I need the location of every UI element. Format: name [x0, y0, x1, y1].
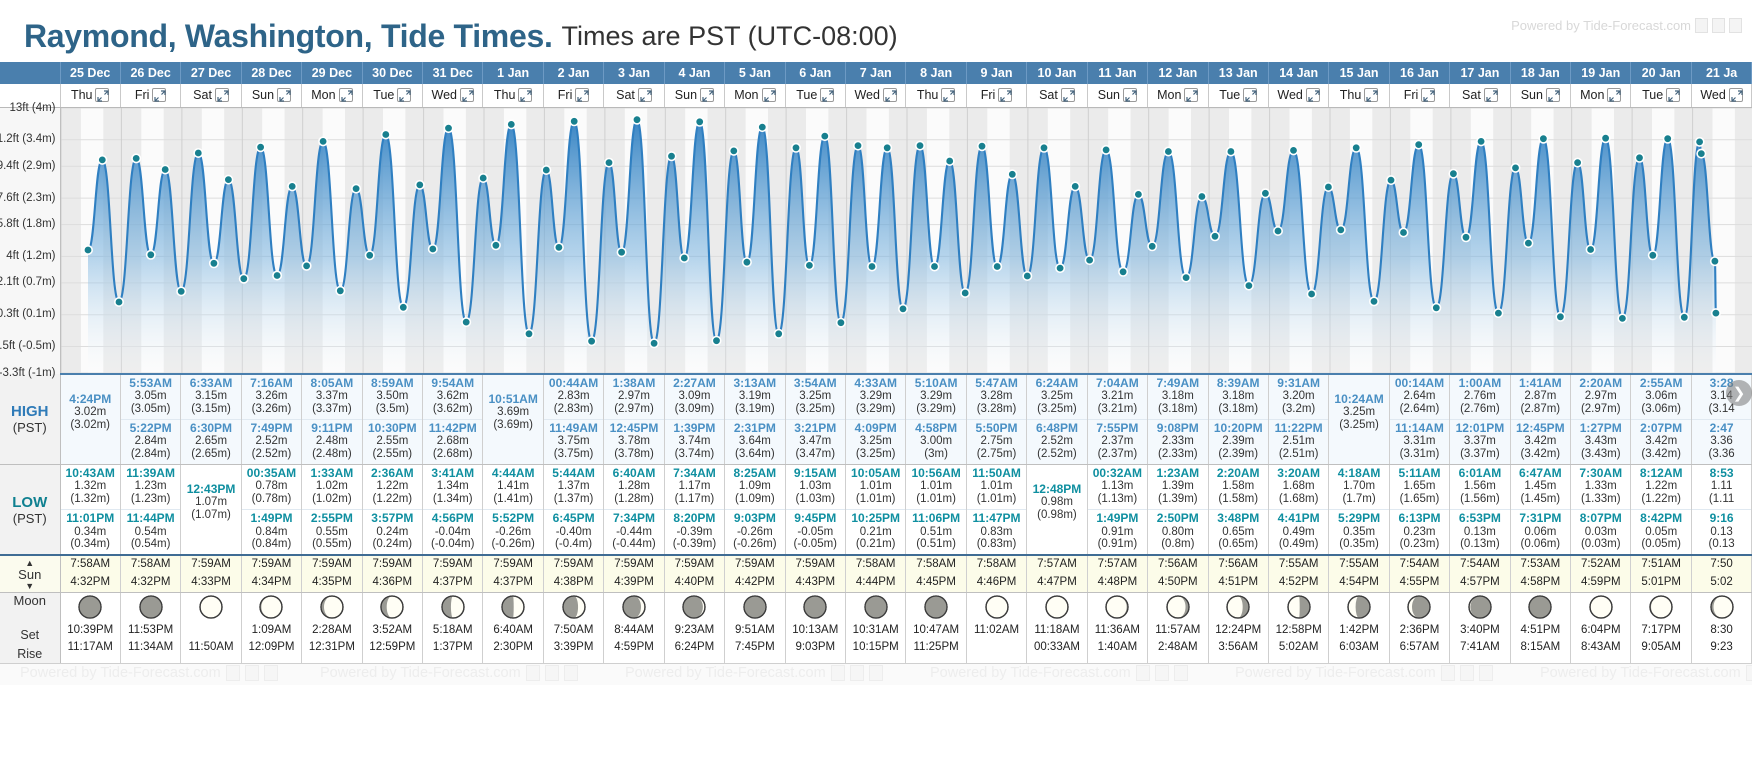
weekday-cell[interactable]: Thu — [1329, 84, 1389, 107]
tide-event: 9:08PM2.33m(2.33m) — [1148, 419, 1207, 464]
expand-icon[interactable] — [277, 88, 291, 102]
tide-event: 4:41PM0.49m(0.49m) — [1269, 509, 1328, 554]
date-header-cell[interactable]: 18 Jan — [1510, 62, 1570, 84]
date-header-cell[interactable]: 6 Jan — [785, 62, 845, 84]
moon-cell: 11:18AM00:33AM — [1027, 592, 1087, 663]
moon-cell: 10:13AM9:03PM — [785, 592, 845, 663]
scroll-right-button[interactable]: ❯ — [1726, 380, 1752, 406]
moonrise-time: 6:57AM — [1390, 639, 1449, 656]
tide-time: 5:47AM — [967, 377, 1026, 390]
tide-height: 1.01m — [906, 480, 965, 493]
tide-height-alt: (2.97m) — [604, 403, 663, 416]
tide-height: 3.28m — [967, 390, 1026, 403]
tide-height-alt: (-0.26m) — [725, 538, 784, 551]
weekday-cell[interactable]: Tue — [785, 84, 845, 107]
tide-height: 1.45m — [1511, 480, 1570, 493]
expand-icon[interactable] — [95, 88, 109, 102]
expand-icon[interactable] — [883, 88, 897, 102]
tide-height: 1.68m — [1269, 480, 1328, 493]
sunset-time: 4:33PM — [181, 574, 240, 592]
tide-time: 8:05AM — [302, 377, 361, 390]
weekday-text: Tue — [373, 88, 394, 102]
date-header-cell[interactable]: 4 Jan — [664, 62, 724, 84]
tide-time: 6:40AM — [604, 467, 663, 480]
tide-time: 2:20AM — [1571, 377, 1630, 390]
sunset-time: 4:54PM — [1329, 574, 1388, 592]
moon-phase-icon — [665, 594, 724, 620]
date-header-cell[interactable]: 5 Jan — [725, 62, 785, 84]
tide-time: 7:16AM — [242, 377, 301, 390]
high-label-text: HIGH — [0, 403, 60, 420]
date-text: 25 Dec — [70, 66, 110, 80]
moon-cell: 12:58PM5:02AM — [1268, 592, 1328, 663]
tide-time: 10:25PM — [846, 512, 905, 525]
weekday-text: Tue — [796, 88, 817, 102]
low-tide-label: LOW (PST) — [0, 464, 60, 555]
tide-time: 8:25AM — [725, 467, 784, 480]
tide-height-alt: (1.17m) — [665, 493, 724, 506]
sunrise-time: 7:54AM — [1390, 556, 1449, 574]
weekday-cell[interactable]: Mon — [1571, 84, 1631, 107]
tide-height: 2.87m — [1511, 390, 1570, 403]
weekday-text: Mon — [734, 88, 758, 102]
weekday-text: Sat — [1039, 88, 1058, 102]
date-header-cell[interactable]: 15 Jan — [1329, 62, 1389, 84]
date-text: 10 Jan — [1038, 66, 1077, 80]
moon-phase-icon — [1027, 594, 1086, 620]
tide-height-alt: (2.48m) — [302, 448, 361, 461]
tide-event: 2:31PM3.64m(3.64m) — [725, 419, 784, 464]
weekday-text: Fri — [558, 88, 573, 102]
logo-icon-3 — [1729, 18, 1742, 33]
tide-time: 11:49AM — [544, 422, 603, 435]
sunset-time: 4:44PM — [846, 574, 905, 592]
tide-height-alt: (3.69m) — [483, 419, 542, 432]
date-header-cell[interactable]: 10 Jan — [1027, 62, 1087, 84]
moonset-time: 9:23AM — [665, 622, 724, 639]
sunrise-time: 7:59AM — [423, 556, 482, 574]
timezone-note: Times are PST (UTC-08:00) — [562, 21, 898, 52]
moonset-time: 11:02AM — [967, 622, 1026, 639]
tide-height: 3.78m — [604, 435, 663, 448]
date-text: 16 Jan — [1400, 66, 1439, 80]
tide-event: 5:52PM-0.26m(-0.26m) — [483, 509, 542, 554]
sunset-time: 4:32PM — [121, 574, 180, 592]
expand-icon[interactable] — [215, 88, 229, 102]
weekday-cell[interactable]: Mon — [1148, 84, 1208, 107]
tide-height-alt: (0.21m) — [846, 538, 905, 551]
tide-event: 5:11AM1.65m(1.65m) — [1390, 465, 1449, 509]
tide-height: 0.34m — [61, 526, 120, 539]
weekday-cell[interactable]: Fri — [966, 84, 1026, 107]
expand-icon[interactable] — [397, 88, 411, 102]
tide-height: -0.05m — [786, 526, 845, 539]
weekday-text: Sat — [616, 88, 635, 102]
tide-time: 5:29PM — [1329, 512, 1388, 525]
tide-event: 8:531.11(1.11 — [1692, 465, 1751, 509]
date-header-cell[interactable]: 8 Jan — [906, 62, 966, 84]
tide-time: 11:50AM — [967, 467, 1026, 480]
weekday-cell[interactable]: Sun — [1510, 84, 1570, 107]
weekday-cell[interactable]: Sat — [604, 84, 664, 107]
tide-event: 12:45PM3.78m(3.78m) — [604, 419, 663, 464]
weekday-cell[interactable]: Thu — [60, 84, 120, 107]
tide-height-alt: (0.51m) — [906, 538, 965, 551]
sunset-time: 4:38PM — [544, 574, 603, 592]
sunrise-time: 7:59AM — [181, 556, 240, 574]
weekday-cell[interactable]: Thu — [483, 84, 543, 107]
tide-height: 3.26m — [242, 390, 301, 403]
tide-height: 3.36 — [1692, 435, 1751, 448]
tide-height: 1.11 — [1692, 480, 1751, 493]
moon-cell: 9:23AM6:24PM — [664, 592, 724, 663]
moon-phase-icon — [1631, 594, 1690, 620]
low-tide-cell: 8:12AM1.22m(1.22m)8:42PM0.05m(0.05m) — [1631, 464, 1691, 555]
tide-time: 6:53PM — [1450, 512, 1509, 525]
expand-icon[interactable] — [820, 88, 834, 102]
tide-height: 3.25m — [846, 435, 905, 448]
date-header-cell[interactable]: 28 Dec — [241, 62, 301, 84]
sun-times-cell: 7:57AM4:47PM — [1027, 555, 1087, 592]
tide-event: 11:06PM0.51m(0.51m) — [906, 509, 965, 554]
sun-times-cell: 7:56AM4:51PM — [1208, 555, 1268, 592]
tide-height-alt: (3.06m) — [1631, 403, 1690, 416]
tide-time: 6:48PM — [1027, 422, 1086, 435]
weekday-cell[interactable]: Wed — [1691, 84, 1751, 107]
tide-time: 7:04AM — [1088, 377, 1147, 390]
tide-height: 0.06m — [1511, 526, 1570, 539]
tide-event: 2:36AM1.22m(1.22m) — [363, 465, 422, 509]
tide-event: 7:04AM3.21m(3.21m) — [1088, 375, 1147, 419]
tide-event: 00:35AM0.78m(0.78m) — [242, 465, 301, 509]
date-header-cell[interactable]: 26 Dec — [120, 62, 180, 84]
low-tide-cell: 7:30AM1.33m(1.33m)8:07PM0.03m(0.03m) — [1571, 464, 1631, 555]
weekday-cell[interactable]: Sun — [1087, 84, 1147, 107]
moon-phase-icon — [967, 594, 1026, 620]
weekday-text: Sun — [1521, 88, 1543, 102]
date-header-cell[interactable]: 17 Jan — [1450, 62, 1510, 84]
tide-height-alt: (1.09m) — [725, 493, 784, 506]
tide-height-alt: (0.13m) — [1450, 538, 1509, 551]
tide-height: 3.42m — [1631, 435, 1690, 448]
date-header-cell[interactable]: 19 Jan — [1571, 62, 1631, 84]
footer-powered-by-text: Powered by Tide-Forecast.com — [320, 665, 521, 681]
tide-height-alt: (3.26m) — [242, 403, 301, 416]
date-text: 30 Dec — [372, 66, 412, 80]
date-header-cell[interactable]: 31 Dec — [423, 62, 483, 84]
sunset-time: 5:01PM — [1631, 574, 1690, 592]
expand-icon[interactable] — [1484, 88, 1498, 102]
low-tide-cell: 00:32AM1.13m(1.13m)1:49PM0.91m(0.91m) — [1087, 464, 1147, 555]
high-tide-cell: 4:33AM3.29m(3.29m)4:09PM3.25m(3.25m) — [845, 374, 905, 465]
weekday-cell[interactable]: Thu — [906, 84, 966, 107]
tide-height-alt: (3.37m) — [1450, 448, 1509, 461]
tide-time: 8:39AM — [1209, 377, 1268, 390]
tide-time: 8:42PM — [1631, 512, 1690, 525]
footer-logo-icon-2 — [545, 665, 559, 681]
date-header-cell[interactable]: 7 Jan — [845, 62, 905, 84]
tide-event: 7:49PM2.52m(2.52m) — [242, 419, 301, 464]
tide-height-alt: (0.54m) — [121, 538, 180, 551]
tide-event: 00:44AM2.83m(2.83m) — [544, 375, 603, 419]
weekday-cell[interactable]: Tue — [362, 84, 422, 107]
weekday-cell[interactable]: Wed — [423, 84, 483, 107]
tide-height: 1.32m — [61, 480, 120, 493]
tide-height: 0.65m — [1209, 526, 1268, 539]
date-header-cell[interactable]: 9 Jan — [966, 62, 1026, 84]
date-text: 5 Jan — [739, 66, 771, 80]
expand-icon[interactable] — [762, 88, 776, 102]
high-tide-cell: 5:10AM3.29m(3.29m)4:58PM3.00m(3m) — [906, 374, 966, 465]
tide-event: 11:39AM1.23m(1.23m) — [121, 465, 180, 509]
tide-event: 2:20AM1.58m(1.58m) — [1209, 465, 1268, 509]
tide-event: 1:49PM0.91m(0.91m) — [1088, 509, 1147, 554]
tide-height-alt: (2.68m) — [423, 448, 482, 461]
tide-time: 1:49PM — [242, 512, 301, 525]
y-axis-tick-label: -1.5ft (-0.5m) — [0, 340, 56, 352]
date-header-cell[interactable]: 20 Jan — [1631, 62, 1691, 84]
footer-powered-by-text: Powered by Tide-Forecast.com — [1540, 665, 1741, 681]
footer-powered-by-text: Powered by Tide-Forecast.com — [1235, 665, 1436, 681]
tide-event: 6:45PM-0.40m(-0.4m) — [544, 509, 603, 554]
tide-time: 7:49PM — [242, 422, 301, 435]
weekday-cell[interactable]: Mon — [302, 84, 362, 107]
tide-height-alt: (2.65m) — [181, 448, 240, 461]
low-tide-cell: 12:48PM0.98m(0.98m) — [1027, 464, 1087, 555]
tide-event: 8:59AM3.50m(3.5m) — [363, 375, 422, 419]
expand-icon[interactable] — [1364, 88, 1378, 102]
weekday-cell[interactable]: Sat — [181, 84, 241, 107]
tide-time: 12:45PM — [604, 422, 663, 435]
tide-height-alt: (1.13m) — [1088, 493, 1147, 506]
tide-height-alt: (3.19m) — [725, 403, 784, 416]
moonrise-time: 00:33AM — [1027, 639, 1086, 656]
weekday-cell[interactable]: Mon — [725, 84, 785, 107]
date-header-cell[interactable]: 1 Jan — [483, 62, 543, 84]
expand-icon[interactable] — [575, 88, 589, 102]
expand-icon[interactable] — [700, 88, 714, 102]
tide-height-alt: (3.18m) — [1148, 403, 1207, 416]
tide-time: 7:55PM — [1088, 422, 1147, 435]
weekday-text: Thu — [917, 88, 939, 102]
date-header-cell[interactable]: 29 Dec — [302, 62, 362, 84]
tide-time: 9:31AM — [1269, 377, 1328, 390]
weekday-cell[interactable]: Fri — [120, 84, 180, 107]
sunset-time: 4:32PM — [61, 574, 120, 592]
tide-event: 10:30PM2.55m(2.55m) — [363, 419, 422, 464]
tide-height-alt: (1.01m) — [846, 493, 905, 506]
expand-icon[interactable] — [1243, 88, 1257, 102]
tide-height: 1.09m — [725, 480, 784, 493]
moonset-time: 10:31AM — [846, 622, 905, 639]
moonset-time: 11:57AM — [1148, 622, 1207, 639]
date-header-cell[interactable]: 16 Jan — [1389, 62, 1449, 84]
sunrise-time: 7:59AM — [604, 556, 663, 574]
sunrise-time: 7:58AM — [121, 556, 180, 574]
high-tide-cell: 1:00AM2.76m(2.76m)12:01PM3.37m(3.37m) — [1450, 374, 1510, 465]
tide-time: 1:39PM — [665, 422, 724, 435]
expand-icon[interactable] — [1184, 88, 1198, 102]
tide-time: 9:16 — [1692, 512, 1751, 525]
expand-icon[interactable] — [152, 88, 166, 102]
tide-time: 9:08PM — [1148, 422, 1207, 435]
moon-phase-icon — [1269, 594, 1328, 620]
sunset-time: 4:35PM — [302, 574, 361, 592]
low-tide-cell: 6:40AM1.28m(1.28m)7:34PM-0.44m(-0.44m) — [604, 464, 664, 555]
moonset-time: 9:51AM — [725, 622, 784, 639]
expand-icon[interactable] — [1061, 88, 1075, 102]
moonrise-time: 11:34AM — [121, 639, 180, 656]
tide-event: 8:20PM-0.39m(-0.39m) — [665, 509, 724, 554]
tide-time: 4:18AM — [1329, 467, 1388, 480]
tide-height: -0.40m — [544, 526, 603, 539]
expand-icon[interactable] — [1421, 88, 1435, 102]
footer-logo-icon-2 — [1155, 665, 1169, 681]
date-header-cell[interactable]: 21 Ja — [1691, 62, 1751, 84]
date-header-cell[interactable]: 2 Jan — [543, 62, 603, 84]
moonset-time: 6:04PM — [1571, 622, 1630, 639]
weekday-cell[interactable]: Wed — [845, 84, 905, 107]
weekday-cell[interactable]: Fri — [543, 84, 603, 107]
moon-cell: 4:51PM8:15AM — [1510, 592, 1570, 663]
low-tide-cell: 2:36AM1.22m(1.22m)3:57PM0.24m(0.24m) — [362, 464, 422, 555]
tide-time: 10:20PM — [1209, 422, 1268, 435]
tide-height: 0.80m — [1148, 526, 1207, 539]
date-header-cell[interactable]: 12 Jan — [1148, 62, 1208, 84]
weekday-cell[interactable]: Tue — [1631, 84, 1691, 107]
moon-cell: 8:309:23 — [1691, 592, 1751, 663]
tide-time: 2:47 — [1692, 422, 1751, 435]
weekday-cell[interactable]: Fri — [1389, 84, 1449, 107]
expand-icon[interactable] — [998, 88, 1012, 102]
expand-icon[interactable] — [518, 88, 532, 102]
expand-icon[interactable] — [1123, 88, 1137, 102]
date-header-cell[interactable]: 27 Dec — [181, 62, 241, 84]
tide-event: 2:07PM3.42m(3.42m) — [1631, 419, 1690, 464]
tide-event: 4:58PM3.00m(3m) — [906, 419, 965, 464]
tide-height-alt: (1.7m) — [1329, 493, 1388, 506]
high-tide-cell: 7:16AM3.26m(3.26m)7:49PM2.52m(2.52m) — [241, 374, 301, 465]
footer-logo-icon-2 — [850, 665, 864, 681]
sun-times-cell: 7:52AM4:59PM — [1571, 555, 1631, 592]
tide-time: 10:24AM — [1329, 393, 1388, 406]
tide-time: 4:41PM — [1269, 512, 1328, 525]
tide-height-alt: (2.52m) — [1027, 448, 1086, 461]
expand-icon[interactable] — [1546, 88, 1560, 102]
tide-time: 10:30PM — [363, 422, 422, 435]
expand-icon[interactable] — [1729, 88, 1743, 102]
weekday-cell[interactable]: Tue — [1208, 84, 1268, 107]
date-header-cell[interactable]: 14 Jan — [1268, 62, 1328, 84]
tide-event: 7:49AM3.18m(3.18m) — [1148, 375, 1207, 419]
tide-height-alt: (1.02m) — [302, 493, 361, 506]
weekday-cell[interactable]: Sun — [241, 84, 301, 107]
tide-time: 4:33AM — [846, 377, 905, 390]
date-header-cell[interactable]: 13 Jan — [1208, 62, 1268, 84]
tide-event: 2:27AM3.09m(3.09m) — [665, 375, 724, 419]
tide-height: 2.97m — [1571, 390, 1630, 403]
expand-icon[interactable] — [1607, 88, 1621, 102]
tide-forecast-page: Raymond, Washington, Tide Times. Times a… — [0, 0, 1752, 780]
sun-times-cell: 7:57AM4:48PM — [1087, 555, 1147, 592]
tide-height: 1.22m — [363, 480, 422, 493]
moonset-time: 10:39PM — [61, 622, 120, 639]
sunrise-time: 7:59AM — [786, 556, 845, 574]
expand-icon[interactable] — [339, 88, 353, 102]
tide-event: 1:00AM2.76m(2.76m) — [1450, 375, 1509, 419]
moon-cell: 10:39PM11:17AM — [60, 592, 120, 663]
weekday-cell[interactable]: Sat — [1027, 84, 1087, 107]
tide-time: 00:44AM — [544, 377, 603, 390]
sun-times-cell: 7:59AM4:37PM — [423, 555, 483, 592]
tide-height: 2.97m — [604, 390, 663, 403]
date-header-cell[interactable]: 11 Jan — [1087, 62, 1147, 84]
expand-icon[interactable] — [941, 88, 955, 102]
date-header-cell[interactable]: 30 Dec — [362, 62, 422, 84]
weekday-cell[interactable]: Sun — [664, 84, 724, 107]
tide-time: 5:50PM — [967, 422, 1026, 435]
moon-phase-icon — [121, 594, 180, 620]
tide-time: 11:44PM — [121, 512, 180, 525]
tide-height-alt: (0.34m) — [61, 538, 120, 551]
moon-phase-icon — [242, 594, 301, 620]
tide-time: 7:34PM — [604, 512, 663, 525]
tide-event: 10:51AM3.69m(3.69m) — [483, 375, 542, 435]
tide-height: 1.33m — [1571, 480, 1630, 493]
sun-times-cell: 7:59AM4:34PM — [241, 555, 301, 592]
tide-time: 9:45PM — [786, 512, 845, 525]
moon-cell: 1:09AM12:09PM — [241, 592, 301, 663]
y-axis-tick-label: 2.1ft (0.7m) — [0, 276, 56, 288]
tide-time: 1:38AM — [604, 377, 663, 390]
moonset-time: 7:17PM — [1631, 622, 1690, 639]
moonset-time: 1:09AM — [242, 622, 301, 639]
expand-icon[interactable] — [638, 88, 652, 102]
date-text: 27 Dec — [191, 66, 231, 80]
tide-event: 7:55PM2.37m(2.37m) — [1088, 419, 1147, 464]
date-header-cell[interactable]: 25 Dec — [60, 62, 120, 84]
high-tide-cell: 7:49AM3.18m(3.18m)9:08PM2.33m(2.33m) — [1148, 374, 1208, 465]
sun-times-cell: 7:56AM4:50PM — [1148, 555, 1208, 592]
low-tide-cell: 4:44AM1.41m(1.41m)5:52PM-0.26m(-0.26m) — [483, 464, 543, 555]
high-tide-cell: 3:13AM3.19m(3.19m)2:31PM3.64m(3.64m) — [725, 374, 785, 465]
low-tide-cell: 3:20AM1.68m(1.68m)4:41PM0.49m(0.49m) — [1268, 464, 1328, 555]
date-header-cell[interactable]: 3 Jan — [604, 62, 664, 84]
weekday-cell[interactable]: Sat — [1450, 84, 1510, 107]
expand-icon[interactable] — [460, 88, 474, 102]
tide-time: 1:00AM — [1450, 377, 1509, 390]
expand-icon[interactable] — [1306, 88, 1320, 102]
tide-event: 10:56AM1.01m(1.01m) — [906, 465, 965, 509]
moon-cell: 2:36PM6:57AM — [1389, 592, 1449, 663]
expand-icon[interactable] — [1666, 88, 1680, 102]
tide-height-alt: (2.33m) — [1148, 448, 1207, 461]
footer-logo-icon-1 — [831, 665, 845, 681]
tide-height: 0.13 — [1692, 526, 1751, 539]
sunset-time: 4:48PM — [1088, 574, 1147, 592]
tide-height-alt: (3.74m) — [665, 448, 724, 461]
date-text: 8 Jan — [920, 66, 952, 80]
tide-time: 5:53AM — [121, 377, 180, 390]
weekday-cell[interactable]: Wed — [1268, 84, 1328, 107]
sun-times-cell: 7:54AM4:57PM — [1450, 555, 1510, 592]
moon-phase-icon — [604, 594, 663, 620]
sun-times-cell: 7:59AM4:36PM — [362, 555, 422, 592]
low-tide-cell: 8:25AM1.09m(1.09m)9:03PM-0.26m(-0.26m) — [725, 464, 785, 555]
sun-times-cell: 7:58AM4:45PM — [906, 555, 966, 592]
high-tide-cell: 1:41AM2.87m(2.87m)12:45PM3.42m(3.42m) — [1510, 374, 1570, 465]
moonrise-time: 11:25PM — [906, 639, 965, 656]
